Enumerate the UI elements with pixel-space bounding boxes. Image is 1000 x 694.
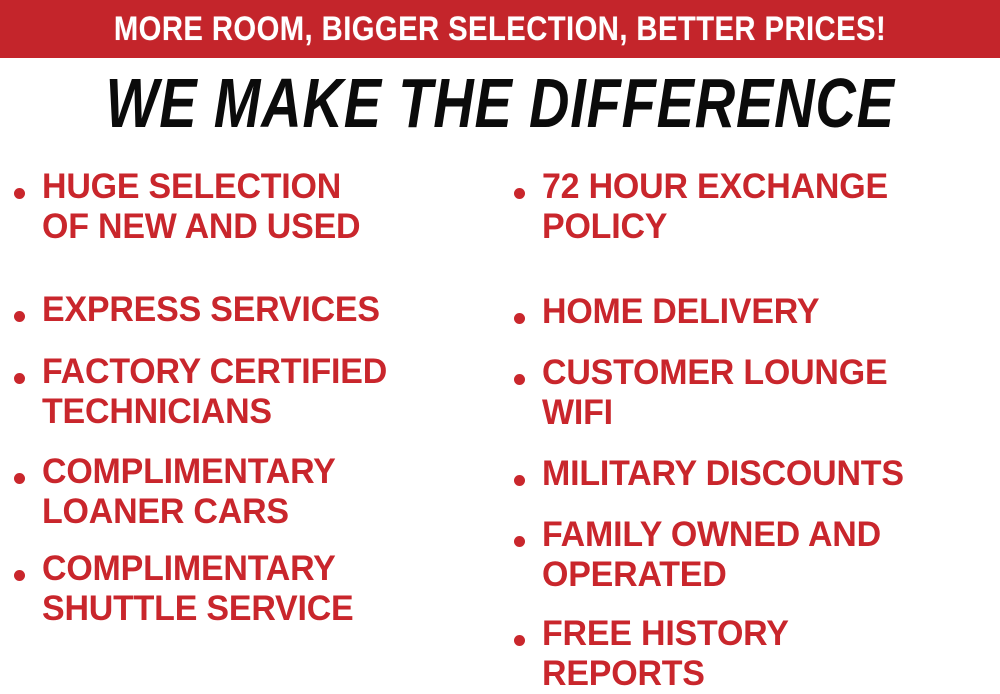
bullet-dot-icon xyxy=(14,373,25,384)
benefits-column-left: HUGE SELECTION OF NEW AND USEDEXPRESS SE… xyxy=(14,155,500,694)
benefit-item: HOME DELIVERY xyxy=(514,292,1000,332)
bullet-dot-icon xyxy=(14,473,25,484)
benefit-item: COMPLIMENTARY LOANER CARS xyxy=(14,452,500,532)
bullet-dot-icon xyxy=(514,475,525,486)
benefit-label: FACTORY CERTIFIED TECHNICIANS xyxy=(42,352,486,432)
benefit-item: MILITARY DISCOUNTS xyxy=(514,454,1000,494)
benefit-item: 72 HOUR EXCHANGE POLICY xyxy=(514,167,1000,247)
headline-container: WE MAKE THE DIFFERENCE xyxy=(0,64,1000,142)
benefit-label: HOME DELIVERY xyxy=(542,292,986,332)
benefit-label: HUGE SELECTION OF NEW AND USED xyxy=(42,167,486,247)
benefit-item: HUGE SELECTION OF NEW AND USED xyxy=(14,167,500,247)
bullet-dot-icon xyxy=(14,570,25,581)
benefit-label: FREE HISTORY REPORTS xyxy=(542,614,986,694)
top-banner: MORE ROOM, BIGGER SELECTION, BETTER PRIC… xyxy=(0,0,1000,58)
bullet-dot-icon xyxy=(514,374,525,385)
benefit-label: FAMILY OWNED AND OPERATED xyxy=(542,515,986,595)
benefit-item: EXPRESS SERVICES xyxy=(14,290,500,330)
benefit-label: COMPLIMENTARY LOANER CARS xyxy=(42,452,486,532)
benefit-item: FAMILY OWNED AND OPERATED xyxy=(514,515,1000,595)
page-title: WE MAKE THE DIFFERENCE xyxy=(105,68,894,138)
bullet-dot-icon xyxy=(514,536,525,547)
benefits-columns: HUGE SELECTION OF NEW AND USEDEXPRESS SE… xyxy=(0,155,1000,694)
bullet-dot-icon xyxy=(14,188,25,199)
benefit-label: 72 HOUR EXCHANGE POLICY xyxy=(542,167,986,247)
benefit-item: FREE HISTORY REPORTS xyxy=(514,614,1000,694)
benefit-label: CUSTOMER LOUNGE WIFI xyxy=(542,353,986,433)
bullet-dot-icon xyxy=(14,311,25,322)
bullet-dot-icon xyxy=(514,188,525,199)
benefit-item: FACTORY CERTIFIED TECHNICIANS xyxy=(14,352,500,432)
banner-headline: MORE ROOM, BIGGER SELECTION, BETTER PRIC… xyxy=(114,12,886,46)
benefit-label: MILITARY DISCOUNTS xyxy=(542,454,986,494)
promotional-poster: MORE ROOM, BIGGER SELECTION, BETTER PRIC… xyxy=(0,0,1000,694)
bullet-dot-icon xyxy=(514,313,525,324)
benefit-label: EXPRESS SERVICES xyxy=(42,290,486,330)
benefit-item: COMPLIMENTARY SHUTTLE SERVICE xyxy=(14,549,500,629)
benefit-label: COMPLIMENTARY SHUTTLE SERVICE xyxy=(42,549,486,629)
bullet-dot-icon xyxy=(514,635,525,646)
benefit-item: CUSTOMER LOUNGE WIFI xyxy=(514,353,1000,433)
benefits-column-right: 72 HOUR EXCHANGE POLICYHOME DELIVERYCUST… xyxy=(514,155,1000,694)
